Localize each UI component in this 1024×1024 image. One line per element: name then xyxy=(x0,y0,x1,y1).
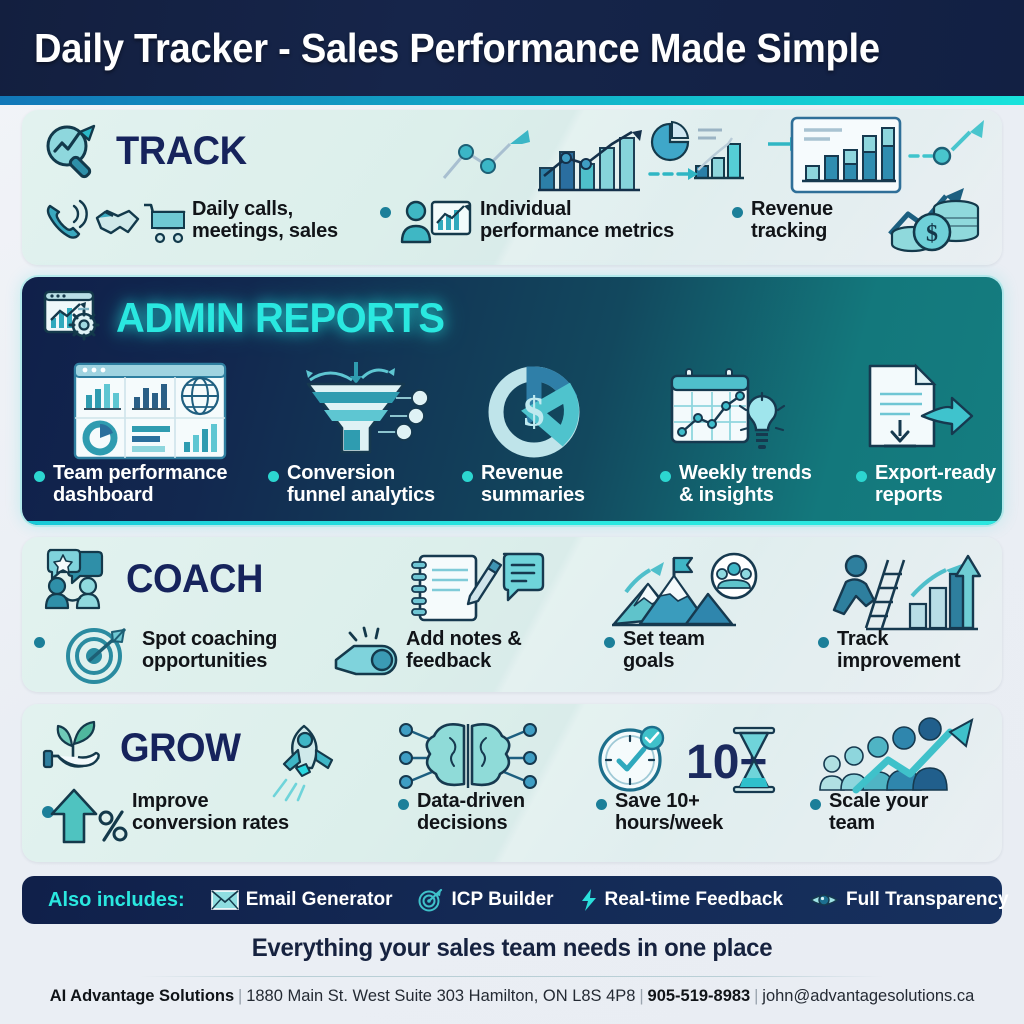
admin-item-4: Export-ready reports xyxy=(856,462,1006,507)
bullet-dot xyxy=(268,471,279,482)
coach-title: COACH xyxy=(126,557,263,602)
ladder-climb-icon xyxy=(826,548,980,634)
lightning-bolt-icon xyxy=(580,888,598,912)
funnel-icon xyxy=(300,358,432,458)
page-title: Daily Tracker - Sales Performance Made S… xyxy=(34,25,880,72)
coach-item-0-label: Spot coaching opportunities xyxy=(142,628,277,673)
envelope-icon xyxy=(211,890,239,910)
admin-item-1: Conversion funnel analytics xyxy=(268,462,483,507)
header-accent-bar xyxy=(0,96,1024,105)
grow-item-1-label: Data-driven decisions xyxy=(417,790,525,835)
track-item-0-label: Daily calls, meetings, sales xyxy=(192,198,338,243)
grow-title-row: GROW xyxy=(42,718,247,778)
bullet-dot xyxy=(462,471,473,482)
admin-title-row: ADMIN REPORTS xyxy=(42,287,462,349)
dashboard-grid-icon xyxy=(74,363,226,459)
coach-item-0-text: Spot coaching opportunities xyxy=(142,628,362,673)
bullet-dot xyxy=(604,637,615,648)
document-export-icon xyxy=(866,362,976,458)
also-includes-bar: Also includes: Email Generator xyxy=(22,876,1002,924)
track-item-1-text: Individual performance metrics xyxy=(480,198,740,243)
track-item-1-label: Individual performance metrics xyxy=(480,198,674,243)
footer-email[interactable]: john@advantagesolutions.ca xyxy=(762,986,974,1005)
grow-item-2: Save 10+ hours/week xyxy=(596,790,786,835)
target-icon xyxy=(418,888,444,912)
arrow-up-right-icon xyxy=(908,112,992,182)
bullet-dot xyxy=(856,471,867,482)
whistle-icon xyxy=(332,626,404,678)
also-item-icp-builder[interactable]: ICP Builder xyxy=(418,888,553,912)
bullet-dot xyxy=(660,471,671,482)
also-item-3-label: Full Transparency xyxy=(846,889,1009,911)
dashboard-gear-icon xyxy=(42,287,104,349)
also-item-0-label: Email Generator xyxy=(246,889,393,911)
coach-title-row: COACH xyxy=(42,548,270,610)
footer-sep-1: | xyxy=(234,986,246,1005)
grow-title: GROW xyxy=(120,726,241,771)
notepad-pencil-icon xyxy=(406,552,544,624)
admin-item-2: Revenue summaries xyxy=(462,462,652,507)
coach-item-1-label: Add notes & feedback xyxy=(406,628,522,673)
grow-item-3: Scale your team xyxy=(810,790,1000,835)
bullet-dot xyxy=(810,799,821,810)
phone-handshake-cart-icon xyxy=(42,196,192,246)
svg-text:$: $ xyxy=(524,390,545,436)
magnifier-growth-icon xyxy=(42,122,104,180)
clock-hourglass-icon: 10+ xyxy=(596,724,776,796)
admin-item-1-label: Conversion funnel analytics xyxy=(287,462,435,507)
eye-icon xyxy=(809,890,839,910)
bullet-dot xyxy=(398,799,409,810)
bullet-dot xyxy=(380,207,391,218)
footer-address: 1880 Main St. West Suite 303 Hamilton, O… xyxy=(246,986,635,1005)
track-title: TRACK xyxy=(116,129,247,174)
admin-item-4-label: Export-ready reports xyxy=(875,462,996,507)
track-item-2: Revenue tracking xyxy=(732,198,932,243)
donut-dollar-icon: $ xyxy=(488,366,580,458)
bullet-dot xyxy=(34,471,45,482)
infographic-page: Daily Tracker - Sales Performance Made S… xyxy=(0,0,1024,1024)
bullet-dot xyxy=(818,637,829,648)
track-item-2-label: Revenue tracking xyxy=(751,198,833,243)
also-item-1-label: ICP Builder xyxy=(451,889,553,911)
hand-sprout-icon xyxy=(42,718,108,778)
coach-item-2: Set team goals xyxy=(604,628,774,673)
also-item-email-generator[interactable]: Email Generator xyxy=(211,889,393,911)
admin-item-3: Weekly trends & insights xyxy=(660,462,850,507)
admin-title: ADMIN REPORTS xyxy=(116,294,445,342)
admin-item-0: Team performance dashboard xyxy=(34,462,249,507)
footer-divider xyxy=(140,976,884,977)
coach-item-1: Add notes & feedback xyxy=(406,628,586,673)
also-item-2-label: Real-time Feedback xyxy=(605,889,783,911)
footer-sep-2: | xyxy=(635,986,647,1005)
grow-item-1: Data-driven decisions xyxy=(398,790,598,835)
coach-item-3: Track improvement xyxy=(818,628,1008,673)
footer-contact: AI Advantage Solutions|1880 Main St. Wes… xyxy=(15,986,1008,1006)
footer-company: AI Advantage Solutions xyxy=(50,986,234,1005)
bullet-dot xyxy=(596,799,607,810)
also-item-full-transparency[interactable]: Full Transparency xyxy=(809,889,1009,911)
calendar-trend-bulb-icon xyxy=(668,362,786,460)
grow-item-0: Improve conversion rates xyxy=(132,790,382,835)
people-feedback-icon xyxy=(42,548,114,610)
footer-tagline: Everything your sales team needs in one … xyxy=(20,934,1003,963)
brain-network-icon xyxy=(398,718,538,800)
grow-item-2-label: Save 10+ hours/week xyxy=(615,790,723,835)
also-item-real-time-feedback[interactable]: Real-time Feedback xyxy=(580,888,783,912)
admin-item-2-label: Revenue summaries xyxy=(481,462,585,507)
grow-item-0-label: Improve conversion rates xyxy=(132,790,289,835)
coach-item-2-label: Set team goals xyxy=(623,628,705,673)
bullet-dot xyxy=(732,207,743,218)
footer-sep-3: | xyxy=(750,986,762,1005)
admin-item-0-label: Team performance dashboard xyxy=(53,462,227,507)
coach-item-3-label: Track improvement xyxy=(837,628,960,673)
admin-item-3-label: Weekly trends & insights xyxy=(679,462,812,507)
grow-item-3-label: Scale your team xyxy=(829,790,928,835)
bullet-dot xyxy=(34,637,45,648)
line-chart-up-icon xyxy=(440,126,650,192)
footer-phone[interactable]: 905-519-8983 xyxy=(648,986,751,1005)
people-growth-arrow-icon xyxy=(816,716,976,796)
track-title-row: TRACK xyxy=(42,122,253,180)
track-item-0: Daily calls, meetings, sales xyxy=(192,198,392,243)
up-arrow-percent-icon xyxy=(42,788,128,844)
page-header: Daily Tracker - Sales Performance Made S… xyxy=(0,0,1024,96)
mountain-flag-icon xyxy=(612,548,758,632)
also-includes-label: Also includes: xyxy=(48,889,185,912)
